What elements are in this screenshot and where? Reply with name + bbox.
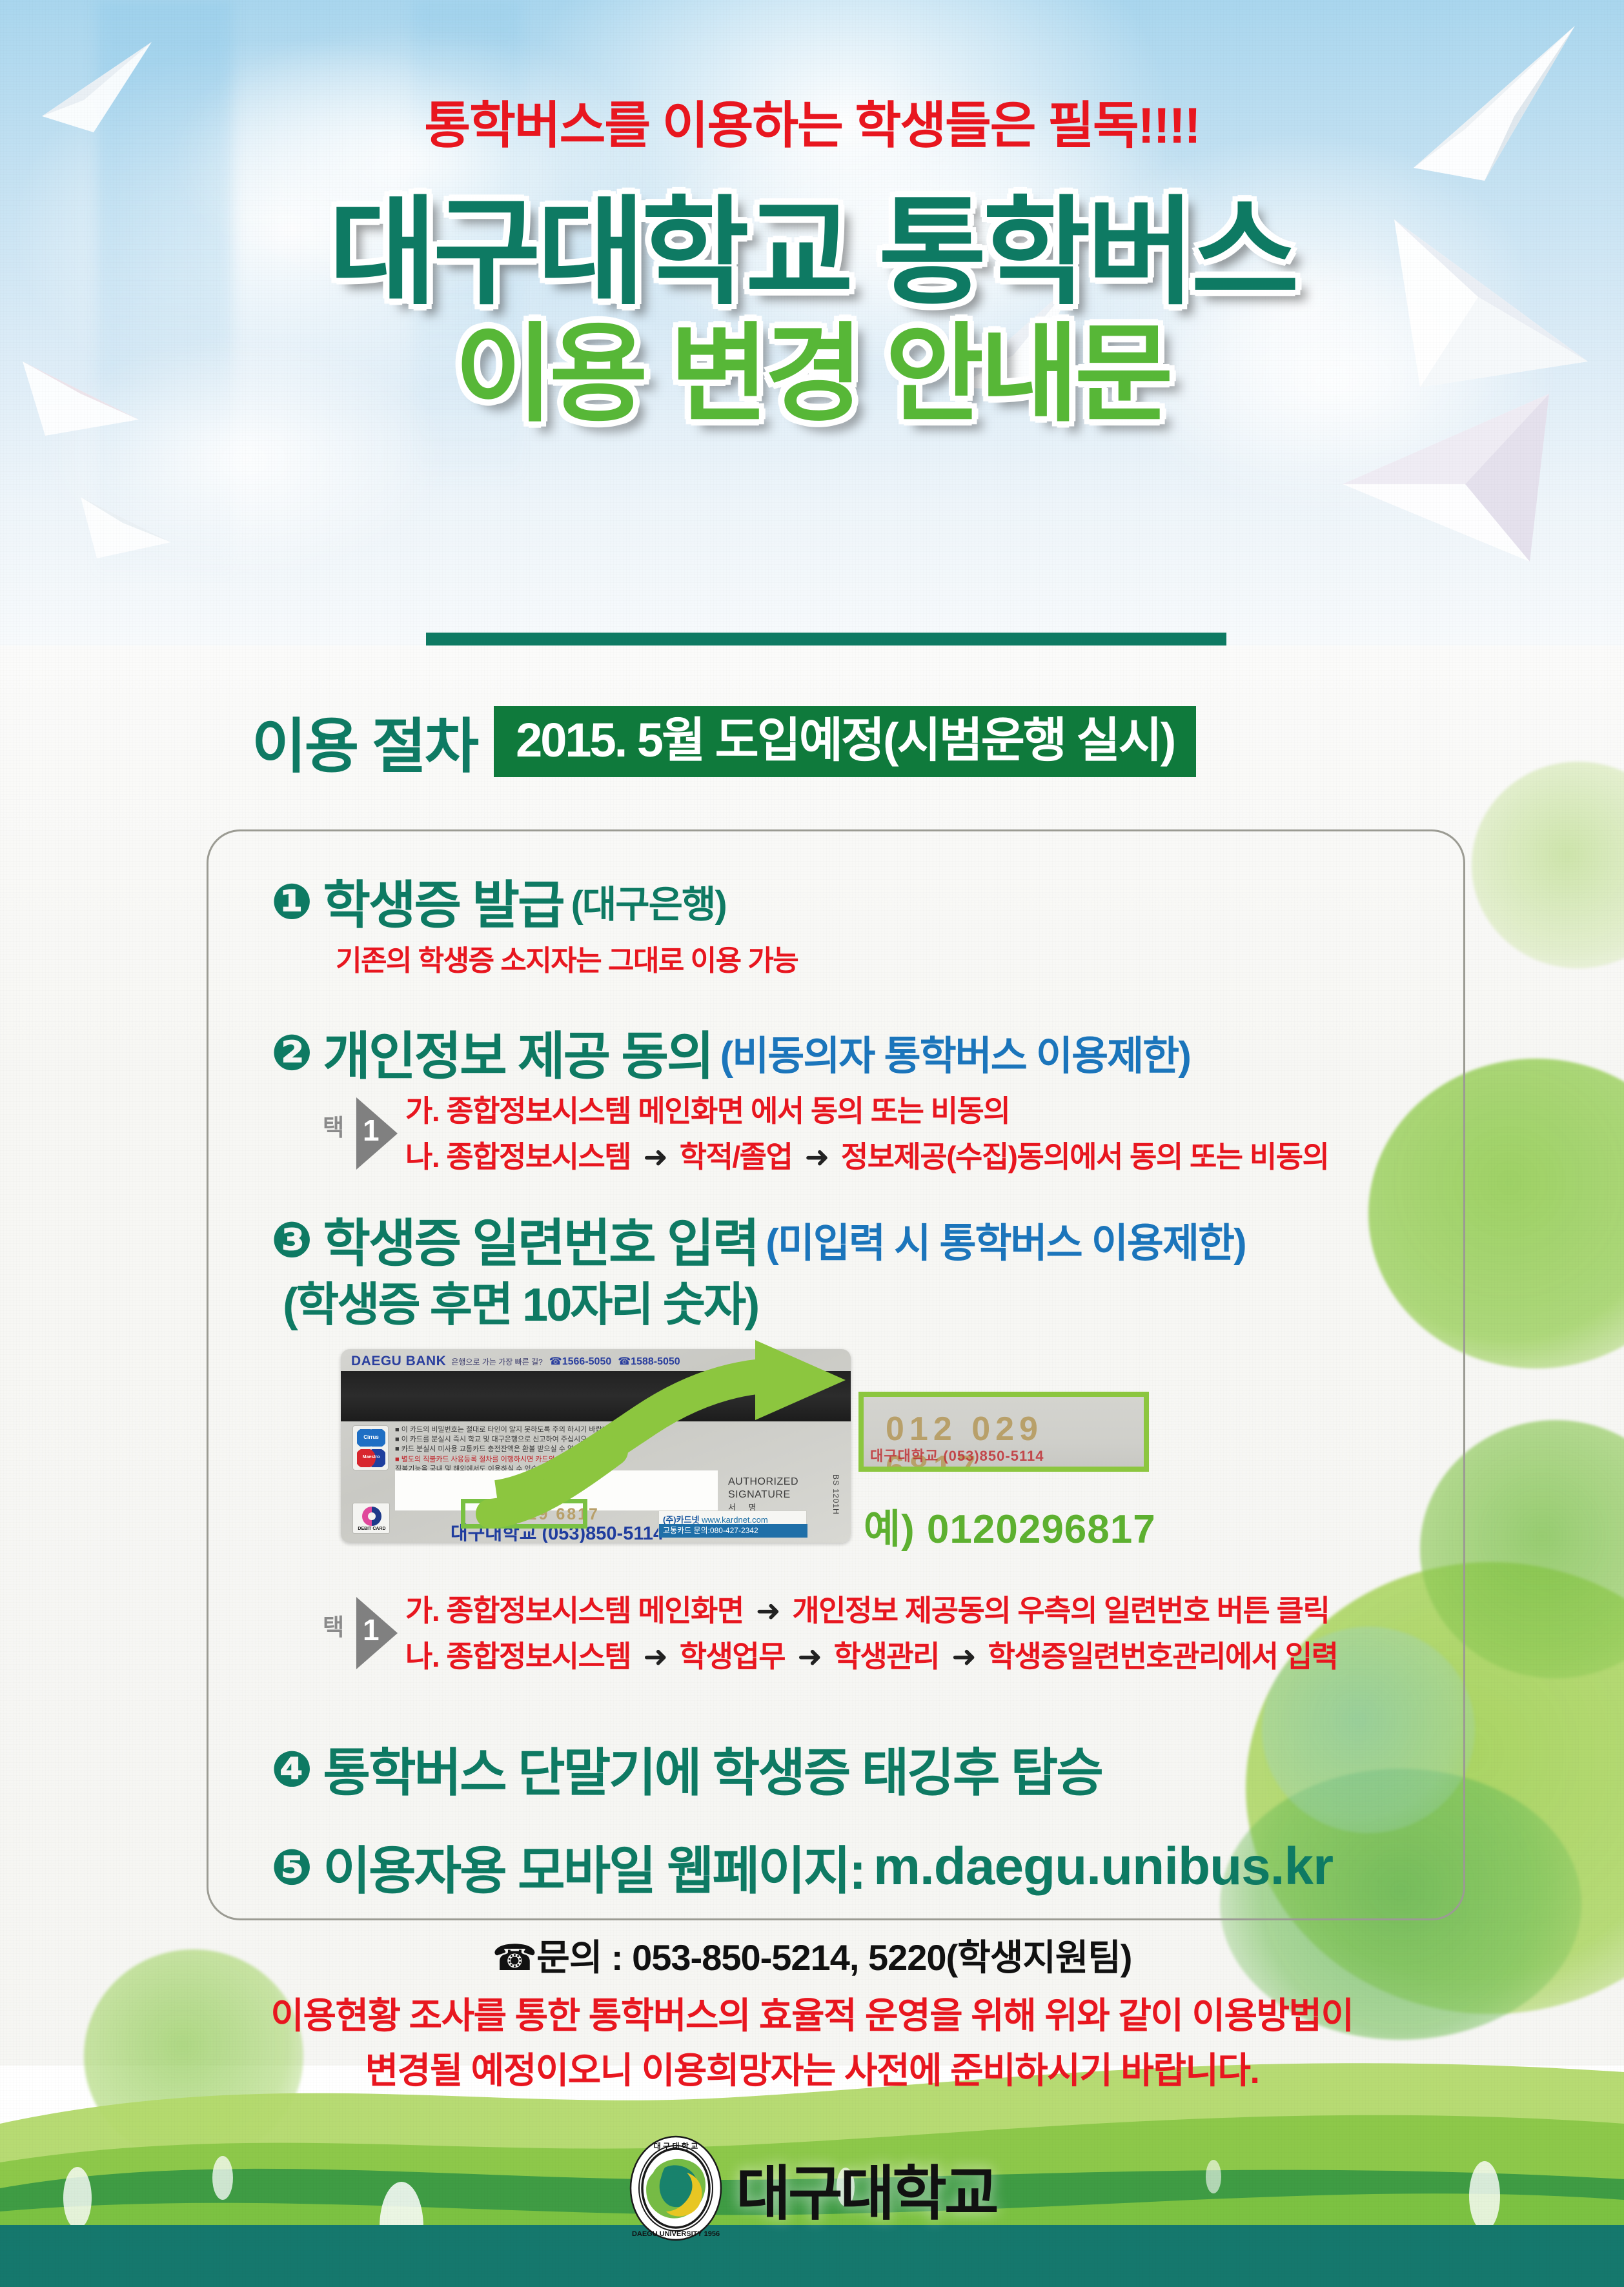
section-header: 이용 절차 2015. 5월 도입예정(시범운행 실시) — [252, 698, 1196, 784]
choose-line-1b: 나. 종합정보시스템 ➜ 학적/졸업 ➜ 정보제공(수집)동의에서 동의 또는 … — [405, 1134, 1328, 1180]
choose-line-1a-p0: 종합정보시스템 메인화면 에서 동의 또는 비동의 — [446, 1094, 1010, 1128]
debit-ring-icon — [362, 1507, 381, 1526]
university-logo-name: 대구대학교 — [736, 2146, 996, 2231]
step-1-paren: (대구은행) — [571, 884, 726, 926]
poster-root: 통학버스를 이용하는 학생들은 필독!!!! 대구대학교 통학버스 이용 변경 … — [0, 0, 1624, 2287]
choose-one-badge-1: 택 1 — [323, 1092, 400, 1176]
step-1: ❶학생증 발급(대구은행) — [271, 864, 726, 939]
arrow-icon: ➜ — [638, 1140, 672, 1174]
choose-line-1b-key: 나. — [405, 1140, 439, 1174]
step-3-title: 학생증 일련번호 입력 — [323, 1215, 758, 1272]
step-3-number: ❸ — [271, 1211, 312, 1268]
step-1-title: 학생증 발급 — [323, 877, 563, 934]
step-1-subtext: 기존의 학생증 소지자는 그대로 이용 가능 — [336, 937, 798, 979]
step-5-url[interactable]: m.daegu.unibus.kr — [873, 1837, 1333, 1896]
callout-under-text: 대구대학교 (053)850-5114 — [870, 1445, 1044, 1465]
arrow-icon: ➜ — [638, 1640, 672, 1673]
maestro-icon: Maestro — [357, 1449, 385, 1467]
step-5: ❺이용자용 모바일 웹페이지:m.daegu.unibus.kr — [271, 1829, 1333, 1904]
cirrus-label: Cirrus — [357, 1434, 385, 1440]
choose-line-1b-p0: 종합정보시스템 — [446, 1140, 631, 1174]
section-divider — [426, 633, 1226, 645]
emblem-ring-bottom-text: DAEGU UNIVERSITY 1956 — [632, 2230, 720, 2238]
paper-plane-left-lower — [77, 478, 174, 562]
step-3-subtitle: (학생증 후면 10자리 숫자) — [283, 1266, 758, 1334]
headline-text: 통학버스를 이용하는 학생들은 필독!!!! — [0, 85, 1624, 158]
choose-line-2a-p1: 개인정보 제공동의 우측의 일련번호 버튼 클릭 — [792, 1594, 1329, 1627]
choose-line-2a: 가. 종합정보시스템 메인화면 ➜ 개인정보 제공동의 우측의 일련번호 버튼 … — [405, 1588, 1337, 1634]
choose-line-2a-p0: 종합정보시스템 메인화면 — [446, 1594, 743, 1627]
choose-line-2b-p3: 학생증일련번호관리에서 입력 — [988, 1640, 1338, 1673]
university-logo-row: 대 구 대 학 교 DAEGU UNIVERSITY 1956 대구대학교 — [0, 2134, 1624, 2242]
cirrus-maestro-logo: Cirrus Maestro — [352, 1425, 389, 1470]
daegu-university-emblem-icon: 대 구 대 학 교 DAEGU UNIVERSITY 1956 — [627, 2134, 724, 2242]
choose-line-2b-key: 나. — [405, 1640, 439, 1673]
debit-card-logo: DEBIT CARD — [352, 1503, 390, 1534]
choose-line-2b-p0: 종합정보시스템 — [446, 1640, 631, 1673]
main-title: 대구대학교 통학버스 이용 변경 안내문 — [0, 194, 1624, 429]
maestro-label: Maestro — [357, 1455, 385, 1459]
section-banner: 2015. 5월 도입예정(시범운행 실시) — [494, 706, 1196, 777]
arrow-icon: ➜ — [792, 1640, 826, 1673]
step-3: ❸학생증 일련번호 입력(미입력 시 통학버스 이용제한) — [271, 1202, 1246, 1277]
choose-one-label-2: 택 — [323, 1609, 343, 1642]
card-bank-name: DAEGU BANK — [351, 1354, 446, 1369]
step-5-title: 이용자용 모바일 웹페이지: — [323, 1842, 864, 1900]
choose-line-2b: 나. 종합정보시스템 ➜ 학생업무 ➜ 학생관리 ➜ 학생증일련번호관리에서 입… — [405, 1634, 1337, 1680]
choose-one-lines-2: 가. 종합정보시스템 메인화면 ➜ 개인정보 제공동의 우측의 일련번호 버튼 … — [405, 1588, 1337, 1680]
choose-line-2b-p1: 학생업무 — [680, 1640, 785, 1673]
serial-callout-box: 012 029 6817 대구대학교 (053)850-5114 — [858, 1392, 1149, 1472]
choose-one-badge-2: 택 1 — [323, 1592, 400, 1676]
choose-one-group-2: 택 1 가. 종합정보시스템 메인화면 ➜ 개인정보 제공동의 우측의 일련번호… — [323, 1588, 1337, 1680]
footer-message: 이용현황 조사를 통한 통학버스의 효율적 운영을 위해 위와 같이 이용방법이… — [0, 1988, 1624, 2098]
choose-line-1b-p1: 학적/졸업 — [680, 1140, 793, 1174]
step-5-number: ❺ — [271, 1838, 312, 1896]
step-3-paren: (미입력 시 통학버스 이용제한) — [766, 1221, 1245, 1266]
choose-one-group-1: 택 1 가. 종합정보시스템 메인화면 에서 동의 또는 비동의 나. 종합정보… — [323, 1088, 1328, 1181]
choose-one-lines-1: 가. 종합정보시스템 메인화면 에서 동의 또는 비동의 나. 종합정보시스템 … — [405, 1088, 1328, 1181]
choose-line-1a: 가. 종합정보시스템 메인화면 에서 동의 또는 비동의 — [405, 1088, 1328, 1134]
step-2-title: 개인정보 제공 동의 — [323, 1028, 712, 1085]
arrow-icon: ➜ — [800, 1140, 834, 1174]
title-line-2: 이용 변경 안내문 — [0, 321, 1624, 429]
green-curved-arrow-icon — [452, 1330, 865, 1543]
emblem-ring-top-text: 대 구 대 학 교 — [654, 2141, 698, 2151]
choose-line-2a-key: 가. — [405, 1594, 439, 1627]
step-2-number: ❷ — [271, 1024, 312, 1081]
choose-line-1a-key: 가. — [405, 1094, 439, 1128]
callout-example-text: 예) 0120296817 — [864, 1496, 1156, 1554]
choose-one-number-1: 1 — [363, 1113, 380, 1148]
step-2: ❷개인정보 제공 동의(비동의자 통학버스 이용제한) — [271, 1015, 1190, 1090]
choose-line-1b-p2: 정보제공(수집)동의에서 동의 또는 비동의 — [841, 1140, 1328, 1174]
footer-message-line-1: 이용현황 조사를 통한 통학버스의 효율적 운영을 위해 위와 같이 이용방법이 — [0, 1988, 1624, 2043]
step-4-number: ❹ — [271, 1740, 312, 1798]
cirrus-icon: Cirrus — [357, 1429, 385, 1447]
contact-line: ☎문의 : 053-850-5214, 5220(학생지원팀) — [0, 1929, 1624, 1981]
step-1-number: ❶ — [271, 873, 312, 930]
debit-card-label: DEBIT CARD — [353, 1527, 391, 1531]
step-4-title: 통학버스 단말기에 학생증 태깅후 탑승 — [323, 1744, 1102, 1802]
footer-message-line-2: 변경될 예정이오니 이용희망자는 사전에 준비하시기 바랍니다. — [0, 2043, 1624, 2098]
step-4: ❹통학버스 단말기에 학생증 태깅후 탑승 — [271, 1731, 1102, 1806]
choose-line-2b-p2: 학생관리 — [834, 1640, 939, 1673]
arrow-icon: ➜ — [751, 1594, 785, 1627]
choose-one-label-1: 택 — [323, 1109, 343, 1143]
title-line-1: 대구대학교 통학버스 — [0, 194, 1624, 311]
step-2-paren: (비동의자 통학버스 이용제한) — [720, 1034, 1190, 1079]
section-label: 이용 절차 — [252, 698, 477, 784]
arrow-icon: ➜ — [946, 1640, 980, 1673]
choose-one-number-2: 1 — [363, 1612, 380, 1647]
